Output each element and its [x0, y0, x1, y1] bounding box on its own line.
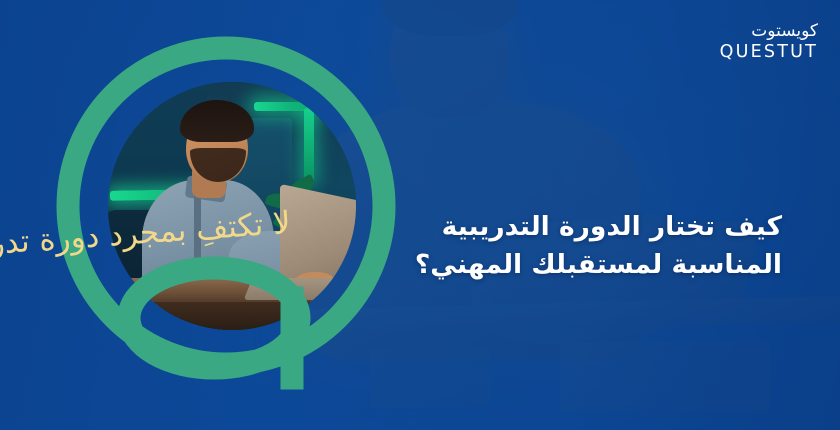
- brand-logo-latin: QUESTUT: [720, 42, 818, 62]
- headline-line-2: المناسبة لمستقبلك المهني؟: [322, 246, 782, 284]
- promo-banner: لا تكتفِ بمجرد دورة تدريبية كيف تختار ال…: [0, 0, 840, 430]
- brand-logo[interactable]: كويستوت QUESTUT: [720, 22, 818, 62]
- headline-line-1: كيف تختار الدورة التدريبية: [322, 208, 782, 246]
- brand-logo-arabic: كويستوت: [720, 22, 818, 41]
- headline: كيف تختار الدورة التدريبية المناسبة لمست…: [322, 208, 782, 283]
